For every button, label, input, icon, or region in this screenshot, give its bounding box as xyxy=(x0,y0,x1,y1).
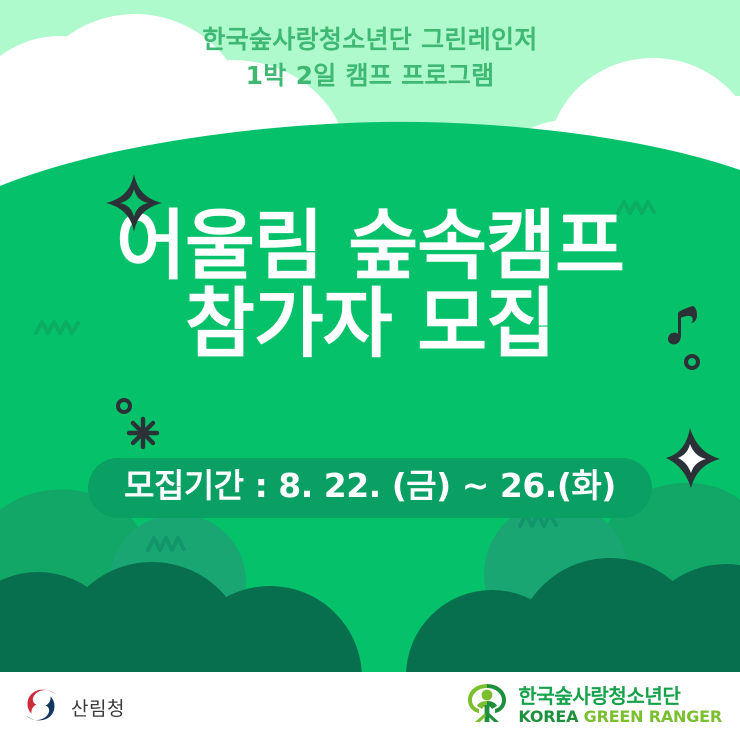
korea-green-ranger-label-ko: 한국숲사랑청소년단 xyxy=(518,686,722,706)
green-ranger-tree-icon xyxy=(465,682,509,729)
music-note xyxy=(666,304,704,348)
footer-bar: 산림청 한국숲사랑청소년단 KOREA GREEN RANG xyxy=(0,672,740,740)
poster-canvas: 한국숲사랑청소년단 그린레인저 1박 2일 캠프 프로그램 어울림 숲속캠프 참… xyxy=(0,0,740,740)
korea-green-ranger-label-en: KOREA GREEN RANGER xyxy=(518,709,722,725)
korea-green-ranger-label-en-part1: KOREA xyxy=(518,707,583,726)
bush-dark-left xyxy=(0,562,362,672)
dot-ring-right xyxy=(684,354,700,370)
header-subtitle: 한국숲사랑청소년단 그린레인저 1박 2일 캠프 프로그램 xyxy=(0,22,740,93)
header-line-2: 1박 2일 캠프 프로그램 xyxy=(0,58,740,94)
recruitment-period-badge-wrap: 모집기간 : 8. 22. (금) ~ 26.(화) xyxy=(0,458,740,518)
korea-green-ranger-logo: 한국숲사랑청소년단 KOREA GREEN RANGER xyxy=(465,682,722,729)
sparkle-top-left xyxy=(104,172,164,234)
asterisk-left xyxy=(126,416,160,450)
sparkle-bottom-right xyxy=(664,426,724,490)
title-line-2: 참가자 모집 xyxy=(0,285,740,363)
header-line-1: 한국숲사랑청소년단 그린레인저 xyxy=(0,22,740,58)
recruitment-period-badge: 모집기간 : 8. 22. (금) ~ 26.(화) xyxy=(88,458,652,518)
dot-ring-left xyxy=(116,398,132,414)
korea-forest-service-logo: 산림청 xyxy=(22,686,125,729)
bush-dark-right xyxy=(406,558,740,672)
korea-green-ranger-label-en-part2: GREEN RANGER xyxy=(584,707,722,726)
taegeuk-icon xyxy=(22,686,60,729)
korea-forest-service-label: 산림청 xyxy=(71,694,125,721)
korea-green-ranger-text: 한국숲사랑청소년단 KOREA GREEN RANGER xyxy=(518,686,722,725)
